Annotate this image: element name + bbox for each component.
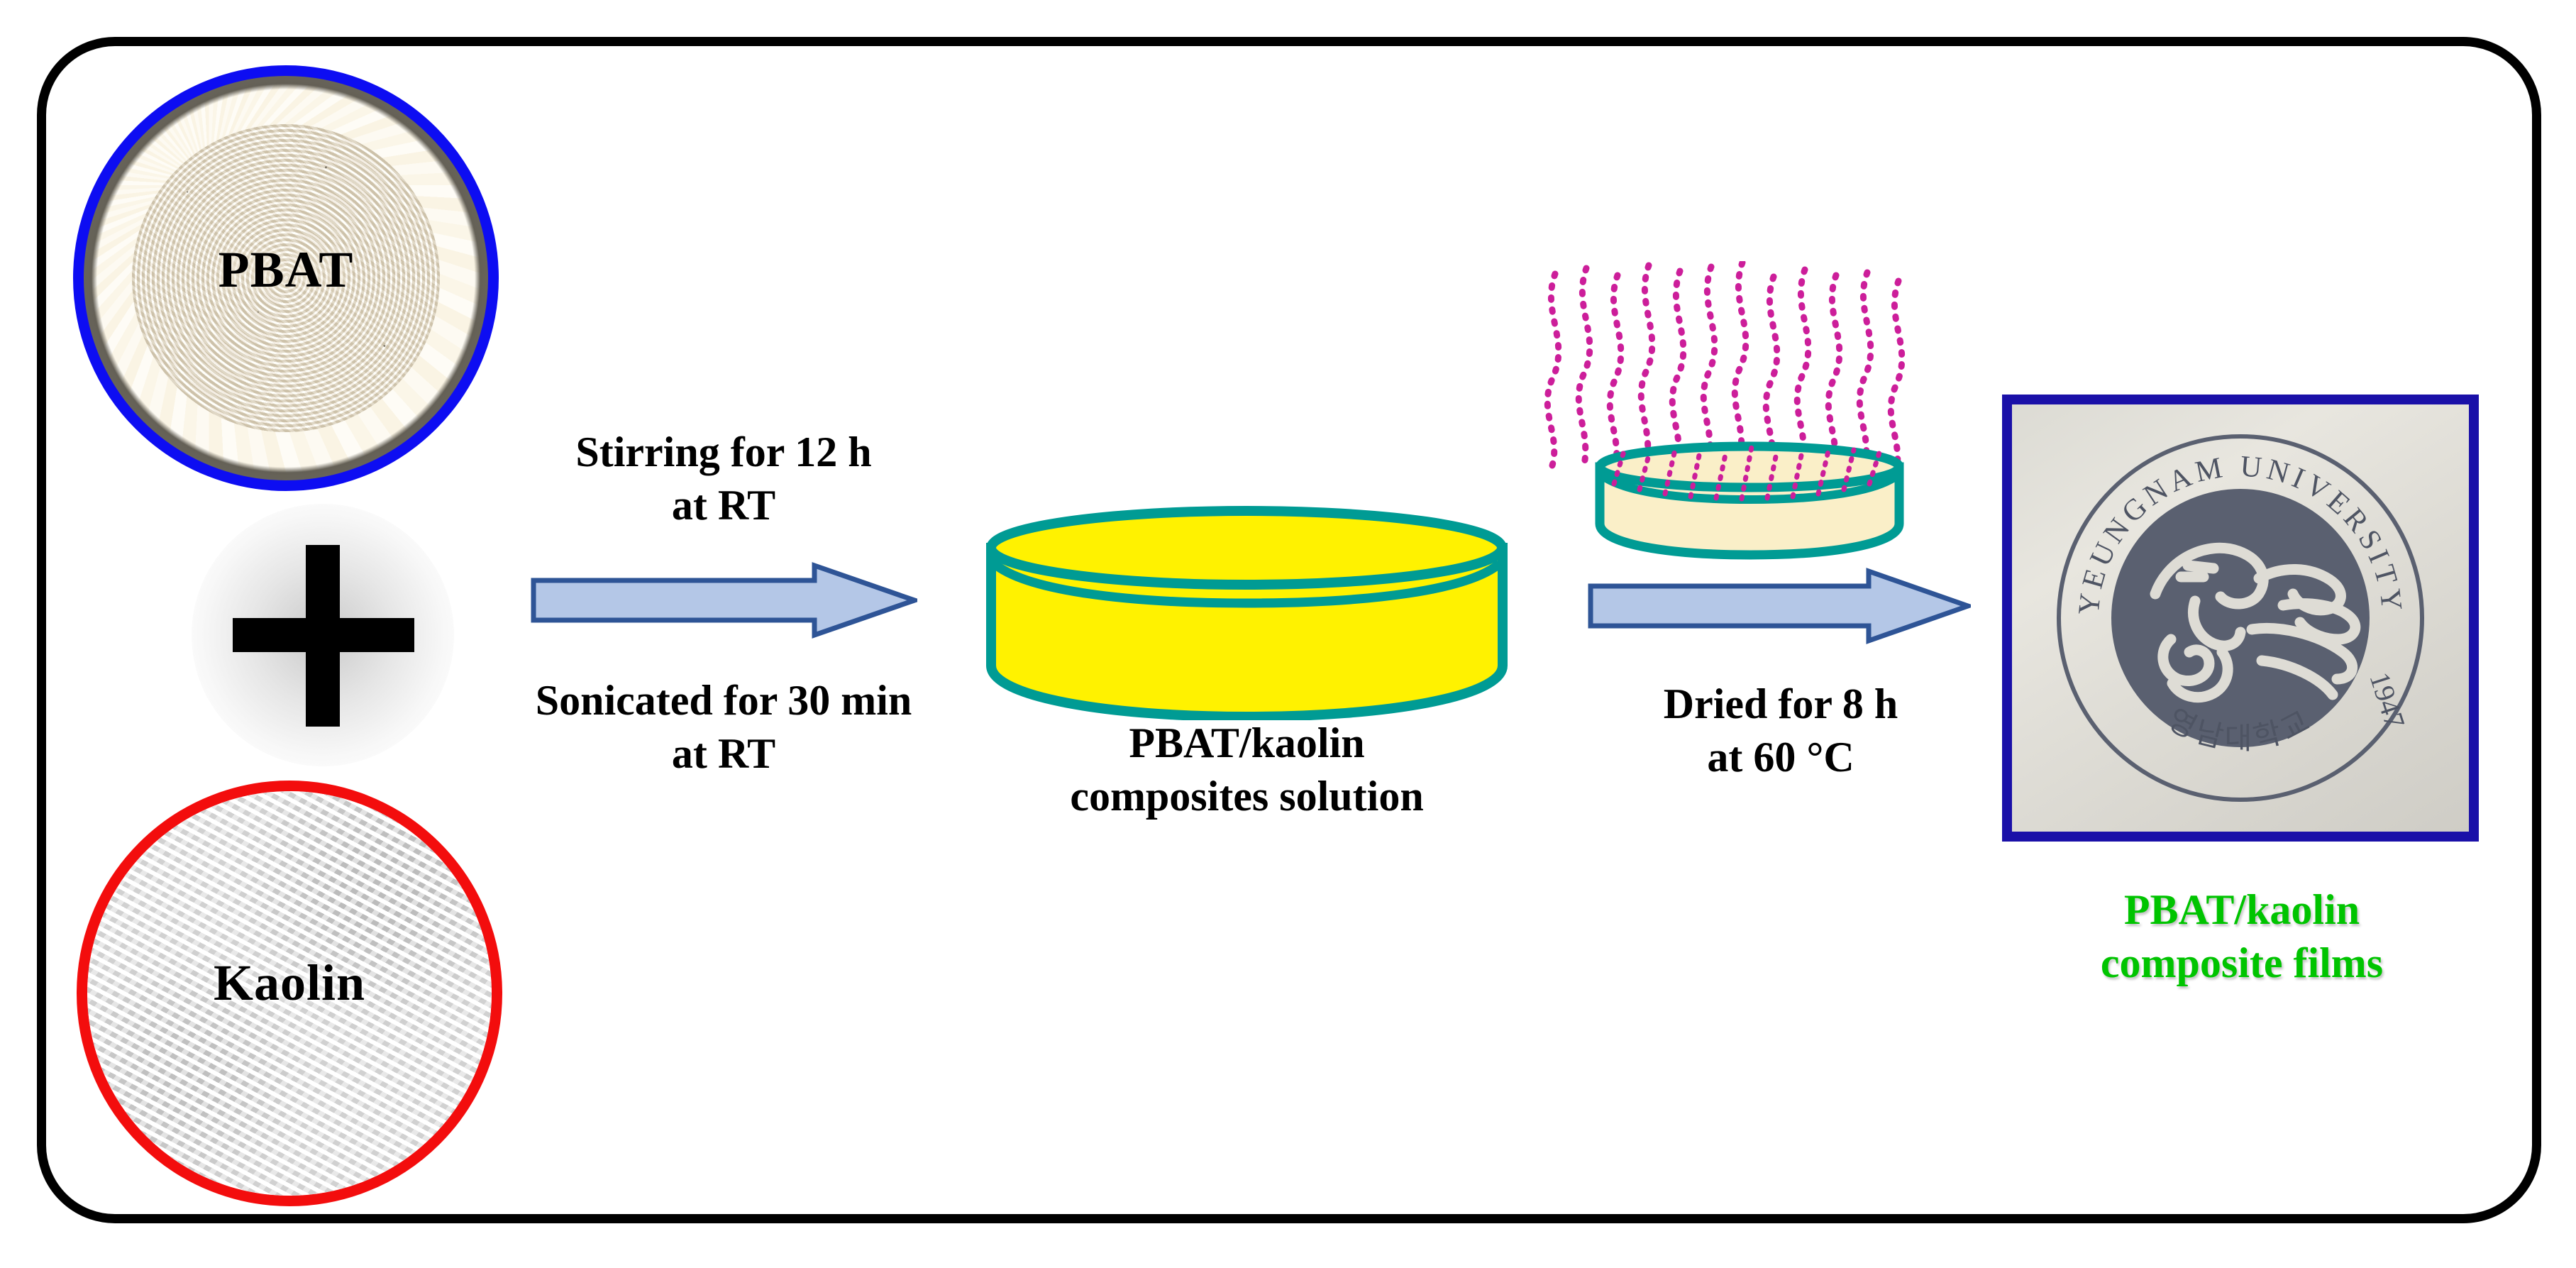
drying-arrow-icon bbox=[1588, 568, 1971, 644]
composite-film-photo: YEUNGNAM UNIVERSITY 영남대학교 1947 bbox=[2002, 395, 2479, 842]
solution-label: PBAT/kaolin composites solution bbox=[961, 717, 1532, 823]
drying-label: Dried for 8 h at 60 °C bbox=[1582, 678, 1979, 784]
plus-icon bbox=[192, 504, 454, 766]
composite-solution-cylinder bbox=[983, 504, 1511, 720]
process-diagram: PBAT Kaolin Stirring for 12 h at RT Soni… bbox=[0, 0, 2576, 1268]
pbat-label: PBAT bbox=[73, 238, 499, 302]
stirring-label: Stirring for 12 h at RT bbox=[490, 426, 958, 532]
product-caption: PBAT/kaolin composite films bbox=[1979, 883, 2504, 990]
kaolin-label: Kaolin bbox=[77, 951, 502, 1015]
drying-dish bbox=[1593, 440, 1905, 561]
sonication-label: Sonicated for 30 min at RT bbox=[490, 674, 958, 781]
yeungnam-university-seal-icon: YEUNGNAM UNIVERSITY 영남대학교 1947 bbox=[2049, 426, 2432, 810]
seal-year-text: 1947 bbox=[2363, 668, 2411, 732]
mixing-arrow-icon bbox=[531, 562, 917, 639]
